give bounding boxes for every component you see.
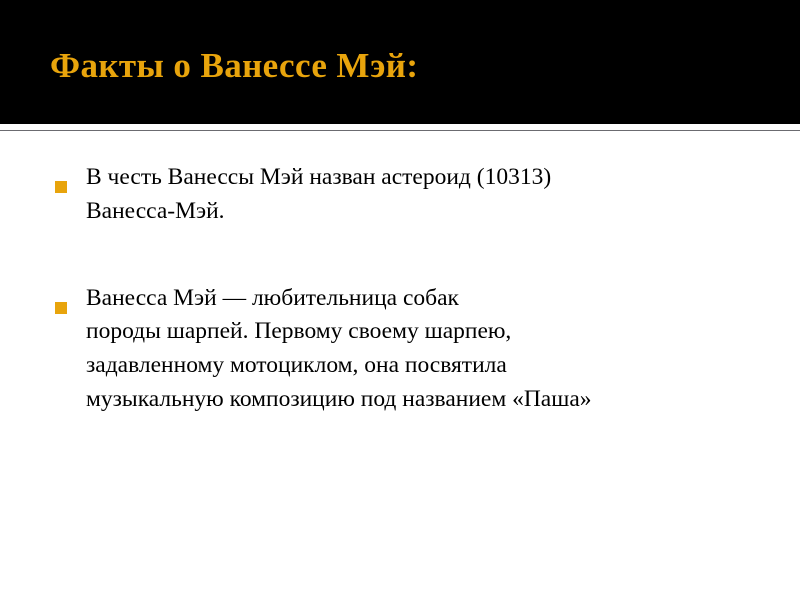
list-item-text: В честь Ванессы Мэй назван астероид (103… — [86, 161, 786, 229]
slide-body: В честь Ванессы Мэй назван астероид (103… — [0, 152, 800, 417]
square-bullet-icon — [55, 302, 67, 314]
page-title: Факты о Ванессе Мэй: — [50, 48, 418, 85]
square-bullet-icon — [55, 181, 67, 193]
list-item: Ванесса Мэй — любительница собак породы … — [0, 282, 800, 417]
list-item: В честь Ванессы Мэй назван астероид (103… — [0, 161, 800, 229]
list-item-text: Ванесса Мэй — любительница собак породы … — [86, 282, 798, 417]
slide: Факты о Ванессе Мэй: В честь Ванессы Мэй… — [0, 0, 800, 600]
title-divider — [0, 130, 800, 131]
